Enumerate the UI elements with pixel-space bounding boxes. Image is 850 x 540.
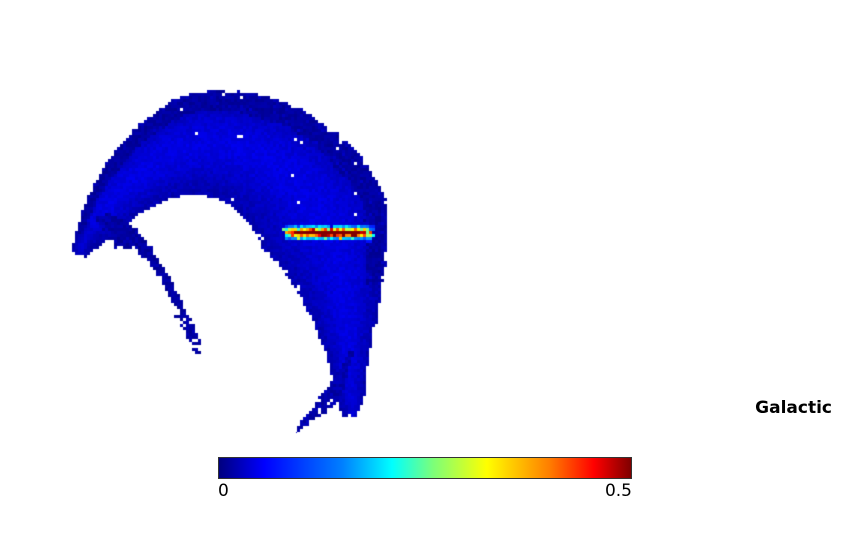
colorbar-min-tick-label: 0 [218,481,229,501]
coordinate-system-label: Galactic [755,398,832,418]
sky-map[interactable] [0,0,850,460]
mollweide-projection-plot[interactable] [0,0,850,460]
colorbar[interactable]: 0 0.5 [218,457,632,501]
colorbar-max-tick-label: 0.5 [605,481,632,501]
colorbar-gradient [218,457,632,479]
figure-canvas: I Stokes Galactic 0 0.5 [0,0,850,540]
